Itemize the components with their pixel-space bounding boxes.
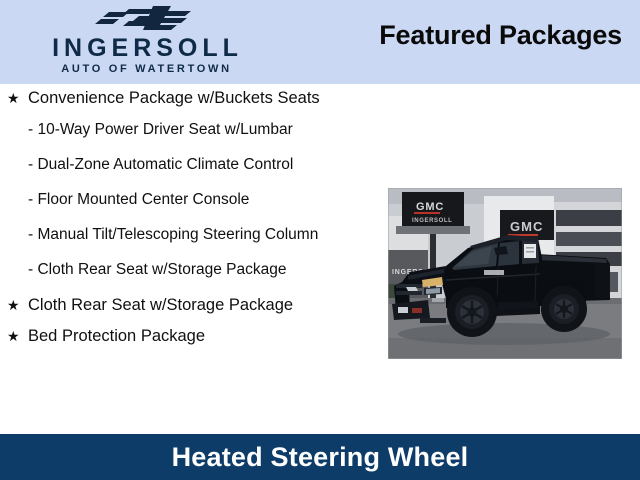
list-item: - Manual Tilt/Telescoping Steering Colum… — [0, 225, 390, 245]
featured-packages-slide: INGERSOLL AUTO OF WATERTOWN Featured Pac… — [0, 0, 640, 480]
list-item: ★ Cloth Rear Seat w/Storage Package — [0, 295, 390, 316]
list-item: ★ Bed Protection Package — [0, 326, 390, 347]
list-item: - 10-Way Power Driver Seat w/Lumbar — [0, 120, 390, 140]
dealer-logo: INGERSOLL AUTO OF WATERTOWN — [0, 4, 290, 77]
list-item-label: - Cloth Rear Seat w/Storage Package — [28, 260, 390, 280]
svg-text:GMC: GMC — [416, 201, 444, 213]
star-icon: ★ — [7, 295, 20, 316]
list-item-label: - Manual Tilt/Telescoping Steering Colum… — [28, 225, 390, 245]
footer-banner: Heated Steering Wheel — [0, 434, 640, 480]
list-item-label: - Floor Mounted Center Console — [28, 190, 390, 210]
vehicle-photo: GMC GMC INGERSOLL INGERSO — [388, 188, 622, 359]
vehicle-photo-image: GMC GMC INGERSOLL INGERSO — [388, 188, 622, 359]
list-item-label: Bed Protection Package — [28, 326, 390, 347]
footer-headline: Heated Steering Wheel — [0, 442, 640, 473]
star-icon: ★ — [7, 326, 20, 347]
list-item-label: - 10-Way Power Driver Seat w/Lumbar — [28, 120, 390, 140]
svg-text:GMC: GMC — [510, 219, 543, 234]
star-icon: ★ — [7, 88, 20, 109]
list-item: - Floor Mounted Center Console — [0, 190, 390, 210]
list-item: - Cloth Rear Seat w/Storage Package — [0, 260, 390, 280]
feature-list: ★ Convenience Package w/Buckets Seats - … — [0, 88, 390, 358]
list-item-label: Cloth Rear Seat w/Storage Package — [28, 295, 390, 316]
svg-text:INGERSOLL: INGERSOLL — [412, 218, 452, 224]
list-item-label: - Dual-Zone Automatic Climate Control — [28, 155, 390, 175]
page-title: Featured Packages — [379, 20, 622, 51]
dealer-name: INGERSOLL — [0, 35, 290, 62]
list-item: - Dual-Zone Automatic Climate Control — [0, 155, 390, 175]
dealer-tagline: AUTO OF WATERTOWN — [0, 62, 290, 77]
list-item: ★ Convenience Package w/Buckets Seats — [0, 88, 390, 109]
list-item-label: Convenience Package w/Buckets Seats — [28, 88, 390, 109]
ingersoll-wing-emblem-icon — [93, 4, 197, 34]
header-band: INGERSOLL AUTO OF WATERTOWN Featured Pac… — [0, 0, 640, 84]
